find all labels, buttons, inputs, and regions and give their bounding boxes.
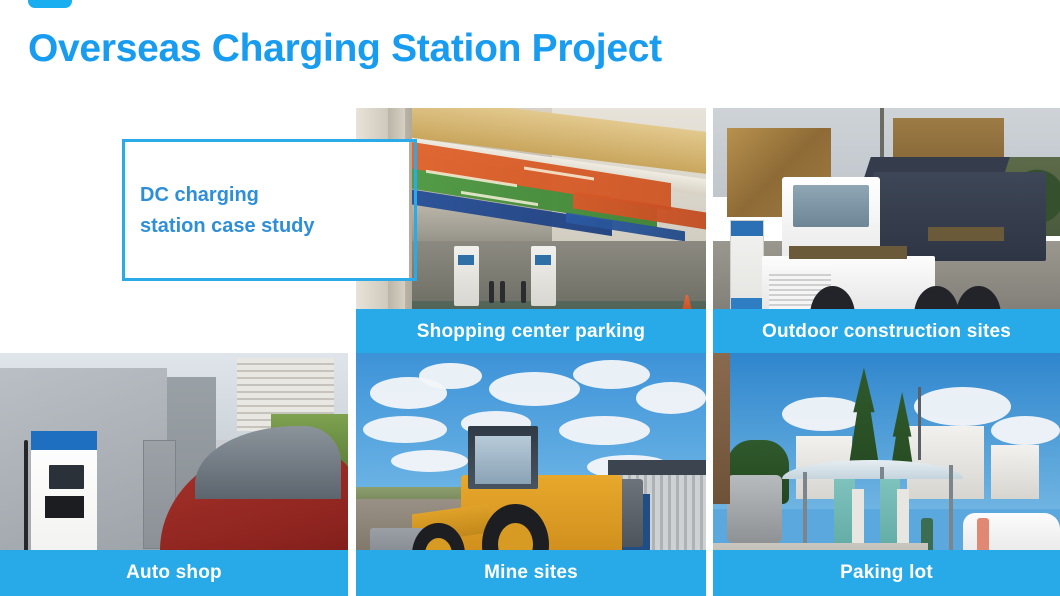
callout-text: DC charging station case study — [140, 180, 410, 242]
charging-station-unit — [531, 246, 556, 305]
person-figure — [489, 281, 494, 303]
loader-cab-glass — [475, 436, 531, 485]
card-outdoor-construction-sites[interactable]: Outdoor construction sites — [713, 108, 1060, 355]
caption-shopping-center-parking: Shopping center parking — [356, 309, 706, 355]
person-figure — [500, 281, 505, 303]
caption-outdoor-construction-sites: Outdoor construction sites — [713, 309, 1060, 355]
white-building — [991, 445, 1040, 498]
accent-pill-decoration — [28, 0, 72, 8]
communication-mast — [918, 387, 921, 460]
charging-station-unit — [454, 246, 479, 305]
charger-connector-slot — [45, 496, 83, 518]
cloud — [391, 450, 468, 472]
caption-auto-shop: Auto shop — [0, 550, 348, 596]
page-title: Overseas Charging Station Project — [28, 27, 662, 71]
caption-mine-sites: Mine sites — [356, 550, 706, 596]
foreground-pillar — [713, 353, 730, 504]
card-paking-lot[interactable]: Paking lot — [713, 353, 1060, 596]
slide-canvas: Overseas Charging Station Project DC cha… — [0, 0, 1060, 596]
truck-brand-band — [789, 246, 907, 258]
callout-line-2: station case study — [140, 211, 410, 242]
truck-windshield — [793, 185, 869, 227]
charging-pile — [730, 220, 763, 321]
card-auto-shop[interactable]: Auto shop — [0, 353, 348, 596]
person-figure — [521, 281, 526, 303]
grey-machinery — [727, 475, 783, 543]
cloud — [782, 397, 865, 431]
callout-line-1: DC charging — [140, 184, 259, 206]
caption-paking-lot: Paking lot — [713, 550, 1060, 596]
charger-screen — [49, 465, 84, 489]
canopy-post — [949, 465, 953, 562]
card-mine-sites[interactable]: Mine sites — [356, 353, 706, 596]
truck-bed-brand-band — [928, 227, 1004, 242]
cloud — [914, 387, 1011, 426]
charger-top-band — [31, 431, 97, 450]
cloud — [363, 416, 447, 443]
cloud — [636, 382, 706, 414]
